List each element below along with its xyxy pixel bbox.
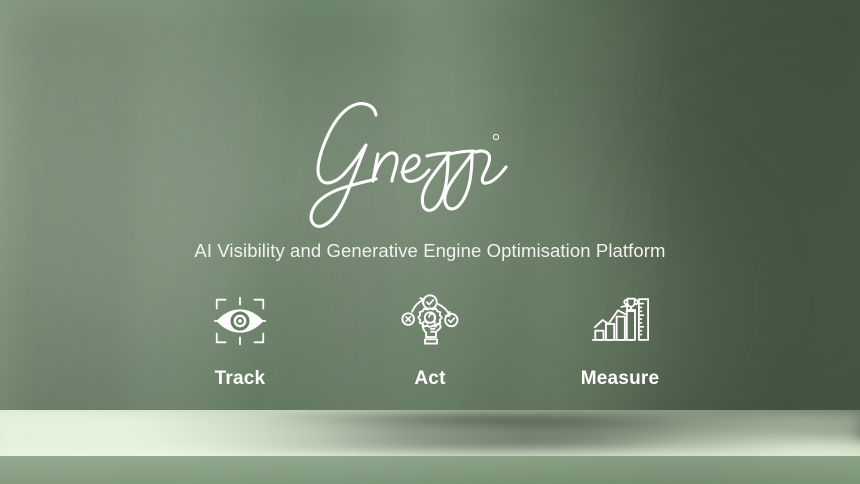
- hand-gear-checkmarks-icon: [399, 290, 461, 352]
- pillar-label: Measure: [581, 368, 660, 390]
- page-tagline: AI Visibility and Generative Engine Opti…: [194, 240, 665, 262]
- pillar-act[interactable]: Act: [382, 290, 478, 390]
- eye-viewfinder-icon: [209, 290, 271, 352]
- pillars-row: Track: [192, 290, 668, 390]
- hero-content: AI Visibility and Generative Engine Opti…: [0, 0, 860, 484]
- bar-chart-trophy-ruler-icon: [589, 290, 651, 352]
- hero-slide: AI Visibility and Generative Engine Opti…: [0, 0, 860, 484]
- pillar-label: Track: [215, 368, 266, 390]
- pillar-measure[interactable]: Measure: [572, 290, 668, 390]
- snezzi-logo: [280, 92, 580, 232]
- pillar-label: Act: [414, 368, 445, 390]
- pillar-track[interactable]: Track: [192, 290, 288, 390]
